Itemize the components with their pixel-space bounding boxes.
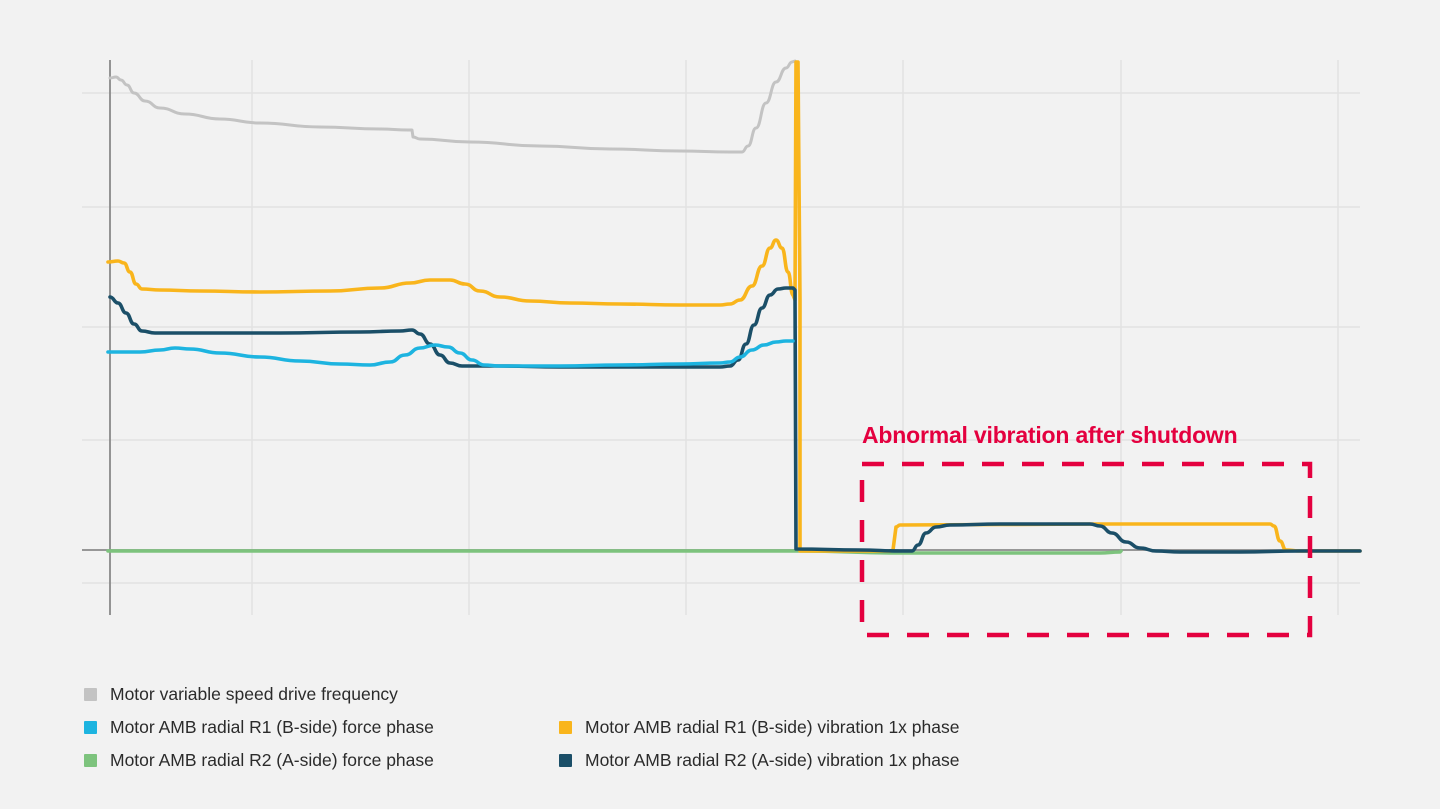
legend-label: Motor AMB radial R2 (A-side) vibration 1… <box>585 752 959 770</box>
legend-item-r1-vibration-1x-phase[interactable]: Motor AMB radial R1 (B-side) vibration 1… <box>559 711 959 744</box>
legend-swatch-icon <box>559 721 572 734</box>
series-line-r1-vibration-1x-phase <box>108 62 1360 551</box>
chart-series-layer <box>108 61 1360 553</box>
legend-swatch-icon <box>84 754 97 767</box>
legend-item-r1-force-phase[interactable]: Motor AMB radial R1 (B-side) force phase <box>84 711 559 744</box>
chart-axes <box>82 60 1360 615</box>
legend-label: Motor AMB radial R1 (B-side) vibration 1… <box>585 719 959 737</box>
annotation-label-abnormal-vibration: Abnormal vibration after shutdown <box>862 422 1237 449</box>
chart-container: Abnormal vibration after shutdown Motor … <box>0 0 1440 809</box>
legend-row: Motor variable speed drive frequency <box>84 678 1384 711</box>
legend-item-r2-force-phase[interactable]: Motor AMB radial R2 (A-side) force phase <box>84 744 559 777</box>
y-gridlines <box>82 93 1360 583</box>
legend-label: Motor variable speed drive frequency <box>110 686 398 704</box>
x-gridlines <box>110 60 1338 615</box>
legend-row: Motor AMB radial R2 (A-side) force phase… <box>84 744 1384 777</box>
line-chart-plot <box>0 0 1440 660</box>
legend-label: Motor AMB radial R2 (A-side) force phase <box>110 752 434 770</box>
legend-swatch-icon <box>84 721 97 734</box>
series-line-vsd-frequency <box>110 61 795 152</box>
chart-legend: Motor variable speed drive frequencyMoto… <box>84 678 1384 777</box>
legend-item-r2-vibration-1x-phase[interactable]: Motor AMB radial R2 (A-side) vibration 1… <box>559 744 959 777</box>
series-line-r2-force-phase <box>108 551 1121 553</box>
legend-label: Motor AMB radial R1 (B-side) force phase <box>110 719 434 737</box>
legend-swatch-icon <box>559 754 572 767</box>
legend-swatch-icon <box>84 688 97 701</box>
legend-item-vsd-frequency[interactable]: Motor variable speed drive frequency <box>84 678 559 711</box>
legend-row: Motor AMB radial R1 (B-side) force phase… <box>84 711 1384 744</box>
